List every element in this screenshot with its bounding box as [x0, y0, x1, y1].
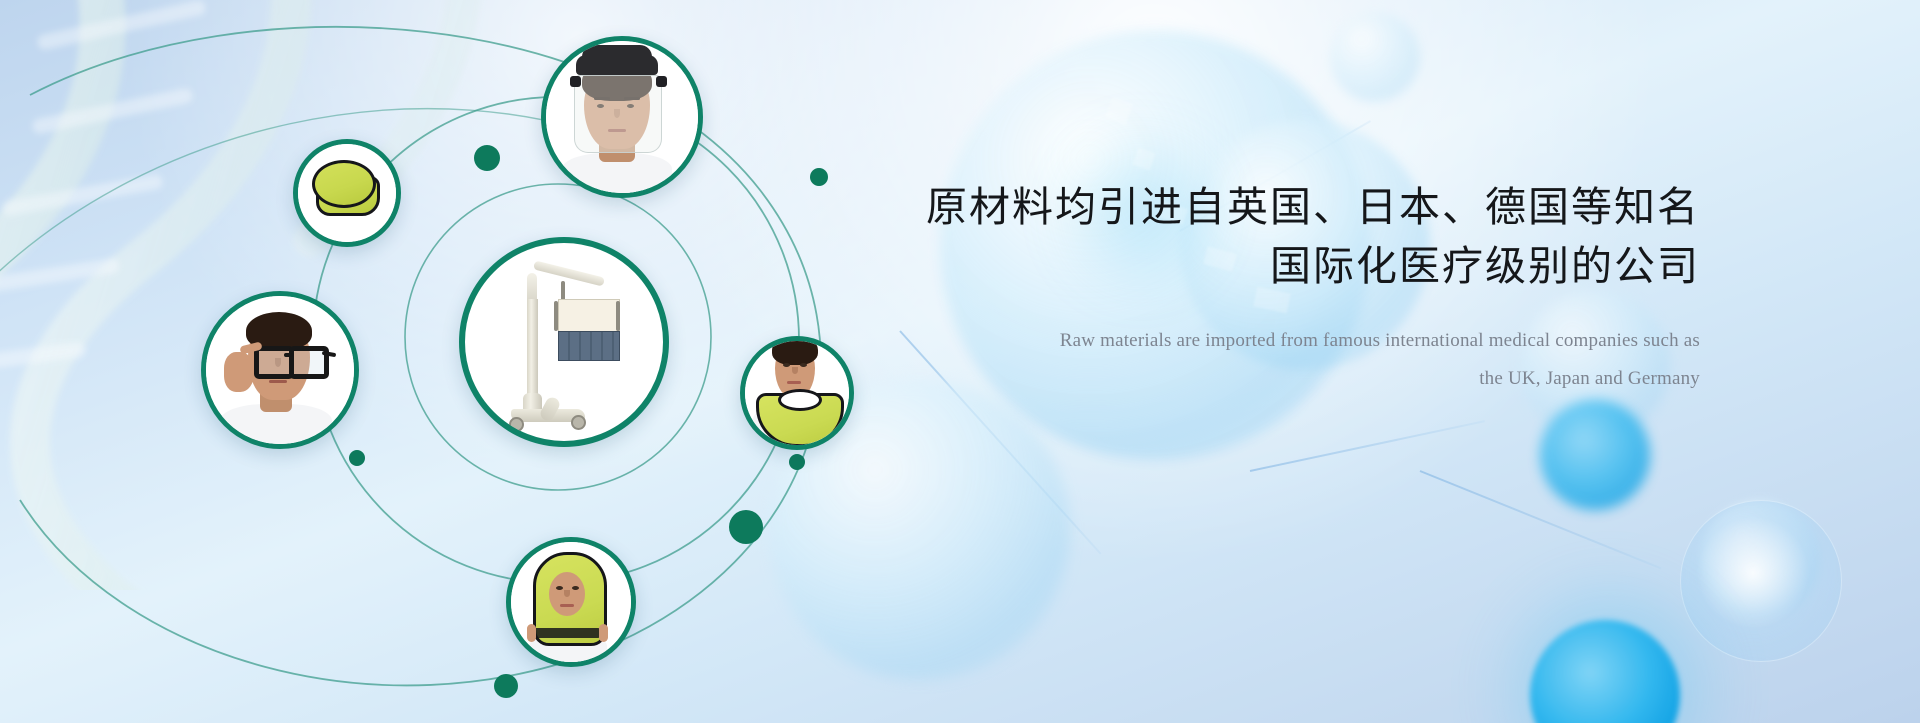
facet-shard — [1132, 147, 1155, 170]
blue-atom-sphere — [1530, 620, 1680, 723]
protective-cap-image — [298, 144, 396, 242]
headline-line-2: 国际化医疗级别的公司 — [760, 237, 1700, 296]
bubble-protective-cap[interactable] — [293, 139, 401, 247]
hero-banner: 原材料均引进自英国、日本、德国等知名 国际化医疗级别的公司 Raw materi… — [0, 0, 1920, 723]
molecule-sphere — [1700, 500, 1820, 620]
bubble-mobile-radiation-shield[interactable] — [459, 237, 669, 447]
subtitle: Raw materials are imported from famous i… — [760, 322, 1700, 398]
molecule-bond — [1250, 420, 1485, 472]
protective-glasses-image — [206, 296, 354, 444]
protective-hood-image — [511, 542, 631, 662]
subtitle-line-1: Raw materials are imported from famous i… — [1060, 330, 1700, 351]
molecule-sphere — [1330, 12, 1420, 102]
orbit-dot — [789, 454, 805, 470]
bubble-protective-hood[interactable] — [506, 537, 636, 667]
mobile-radiation-shield-image — [465, 243, 663, 441]
background-glow — [1480, 560, 1740, 723]
facet-shard — [1105, 97, 1133, 125]
molecule-bond — [1420, 470, 1662, 569]
face-shield-visor-image — [546, 41, 698, 193]
subtitle-line-2: the UK, Japan and Germany — [760, 360, 1700, 398]
molecule-sphere — [1680, 500, 1842, 662]
orbit-dot — [494, 674, 518, 698]
blue-atom-sphere — [1540, 400, 1650, 510]
orbit-dot — [474, 145, 500, 171]
orbit-dot — [729, 510, 763, 544]
bubble-face-shield-visor[interactable] — [541, 36, 703, 198]
bubble-protective-glasses[interactable] — [201, 291, 359, 449]
orbit-dot — [349, 450, 365, 466]
hero-copy: 原材料均引进自英国、日本、德国等知名 国际化医疗级别的公司 Raw materi… — [760, 178, 1700, 398]
headline-line-1: 原材料均引进自英国、日本、德国等知名 — [760, 178, 1700, 237]
